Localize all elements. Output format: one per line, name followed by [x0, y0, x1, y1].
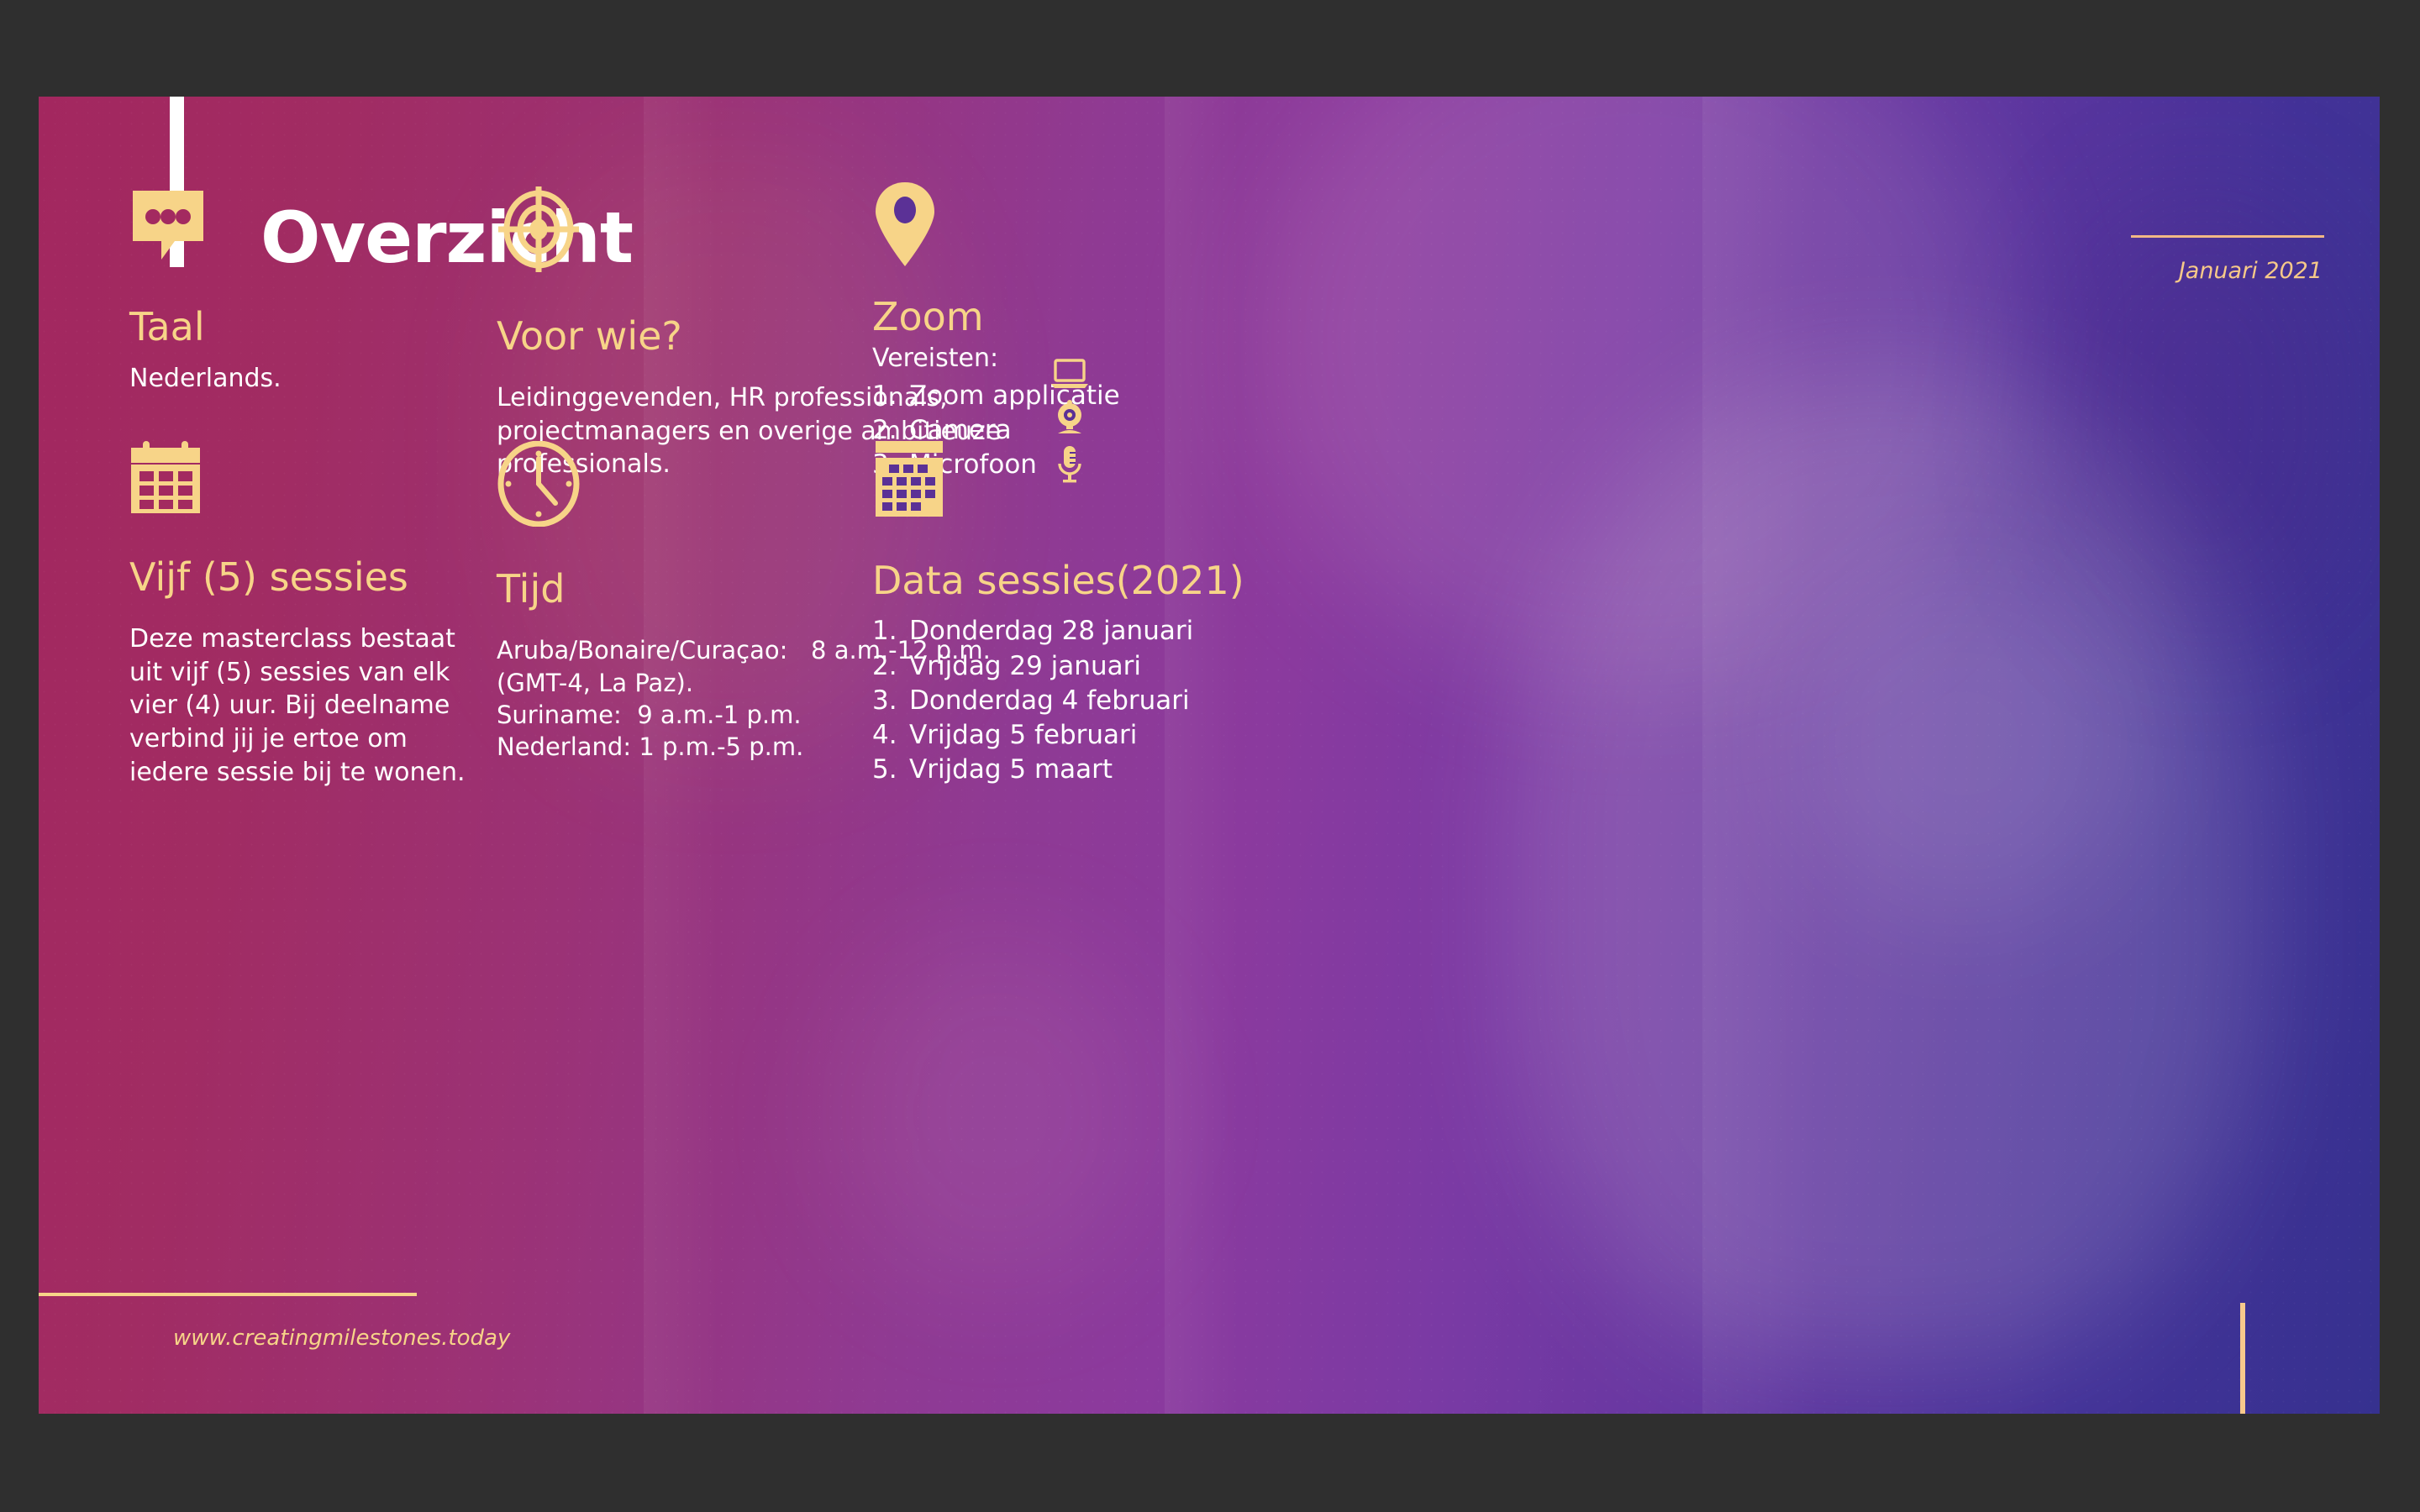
card-data-sessies-heading: Data sessies(2021): [872, 560, 1511, 601]
list-item-label: Vrijdag 5 februari: [909, 718, 1137, 753]
list-item-number: 1.: [872, 379, 901, 413]
webcam-icon: [1053, 399, 1086, 438]
list-item-number: 5.: [872, 753, 901, 787]
list-item: 1. Zoom applicatie: [872, 379, 1477, 413]
card-zoom-subheading: Vereisten:: [872, 342, 1477, 375]
list-item-label: Vrijdag 29 januari: [909, 649, 1141, 684]
list-item: 1. Donderdag 28 januari: [872, 614, 1511, 648]
footer-rule: [39, 1293, 417, 1296]
list-item-number: 3.: [872, 684, 901, 718]
card-zoom: Zoom Vereisten: 1. Zoom applicatie 2. Ca…: [872, 181, 1477, 483]
slide-canvas: Overzicht Januari 2021 Taal Nederlands.: [39, 97, 2380, 1414]
laptop-icon: [1050, 359, 1089, 392]
date-label: Januari 2021: [2179, 258, 2323, 284]
card-data-sessies: Data sessies(2021) 1. Donderdag 28 janua…: [872, 441, 1511, 787]
footer-url[interactable]: www.creatingmilestones.today: [173, 1326, 510, 1351]
list-item: 4. Vrijdag 5 februari: [872, 718, 1511, 753]
map-pin-icon: [872, 181, 1477, 271]
card-zoom-heading: Zoom: [872, 297, 1477, 337]
corner-accent-bar: [2240, 1303, 2245, 1414]
list-item-number: 4.: [872, 718, 901, 753]
list-item: 2. Vrijdag 29 januari: [872, 649, 1511, 684]
date-rule: [2131, 235, 2324, 238]
calendar-grid-icon: [872, 441, 1511, 522]
card-sessies-body: Deze masterclass bestaat uit vijf (5) se…: [129, 622, 466, 789]
list-item-number: 2.: [872, 649, 901, 684]
list-item-label: Vrijdag 5 maart: [909, 753, 1113, 787]
list-item: 5. Vrijdag 5 maart: [872, 753, 1511, 787]
list-item: 3. Donderdag 4 februari: [872, 684, 1511, 718]
list-item-label: Donderdag 28 januari: [909, 614, 1193, 648]
list-item-label: Donderdag 4 februari: [909, 684, 1190, 718]
list-item-number: 1.: [872, 614, 901, 648]
